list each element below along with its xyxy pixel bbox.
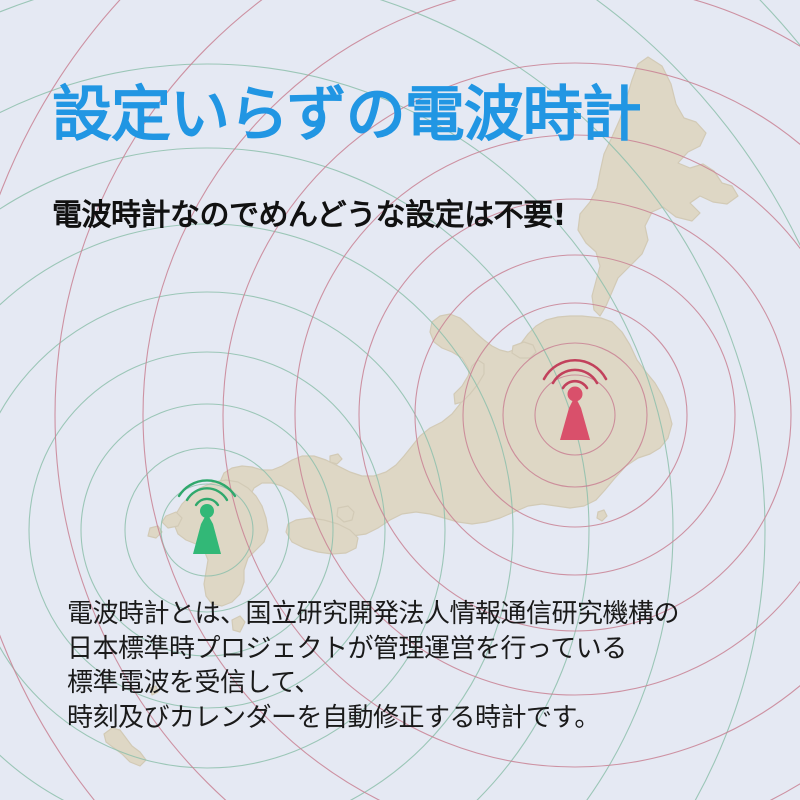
radio-wave-map-illustration [0,0,800,800]
poster-canvas: 設定いらずの電波時計 電波時計なのでめんどうな設定は不要! 電波時計とは、国立研… [0,0,800,800]
